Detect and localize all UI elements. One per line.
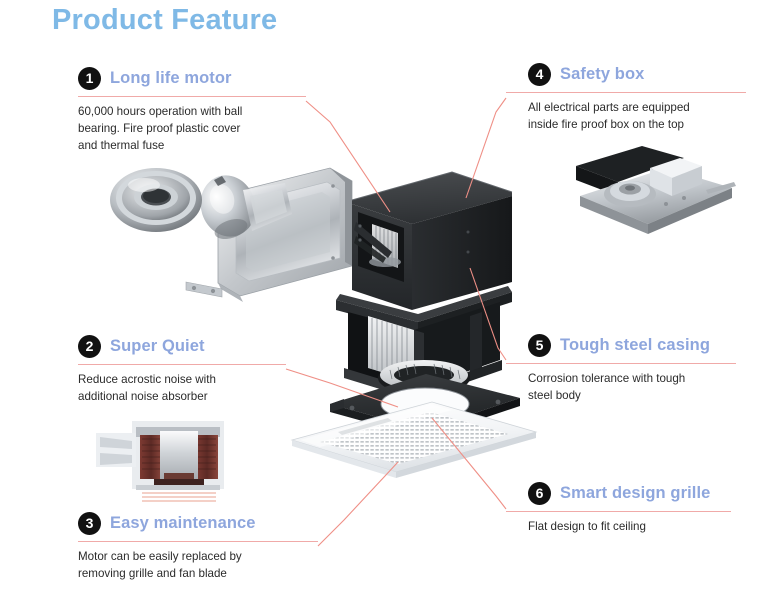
feature-4-header: 4 Safety box: [506, 62, 746, 86]
feature-3-body: Motor can be easily replaced by removing…: [78, 549, 318, 583]
feature-callout-2: 2 Super Quiet Reduce acrostic noise with…: [78, 334, 286, 406]
feature-4-rule: [506, 92, 746, 93]
feature-6-title: Smart design grille: [560, 484, 710, 503]
feature-1-body: 60,000 hours operation with ball bearing…: [78, 104, 306, 154]
feature-2-body: Reduce acrostic noise with additional no…: [78, 372, 286, 406]
feature-1-header: 1 Long life motor: [78, 66, 306, 90]
feature-2-header: 2 Super Quiet: [78, 334, 286, 358]
feature-3-title: Easy maintenance: [110, 514, 256, 533]
feature-1-title: Long life motor: [110, 69, 232, 88]
feature-5-body: Corrosion tolerance with tough steel bod…: [506, 371, 736, 405]
feature-5-title: Tough steel casing: [560, 336, 710, 355]
feature-2-badge: 2: [78, 335, 101, 358]
ceiling-grille: [292, 402, 536, 478]
feature-1-badge: 1: [78, 67, 101, 90]
feature-1-rule: [78, 96, 306, 97]
feature-6-header: 6 Smart design grille: [506, 481, 731, 505]
feature-6-badge: 6: [528, 482, 551, 505]
feature-5-rule: [506, 363, 736, 364]
feature-callout-3: 3 Easy maintenance Motor can be easily r…: [78, 511, 318, 583]
product-feature-page: Product Feature: [0, 0, 768, 614]
feature-4-body: All electrical parts are equipped inside…: [506, 100, 746, 134]
feature-3-badge: 3: [78, 512, 101, 535]
motor-cross-section-photo: [96, 413, 260, 505]
feature-callout-1: 1 Long life motor 60,000 hours operation…: [78, 66, 306, 154]
feature-3-header: 3 Easy maintenance: [78, 511, 318, 535]
feature-5-header: 5 Tough steel casing: [506, 333, 736, 357]
feature-6-rule: [506, 511, 731, 512]
feature-5-badge: 5: [528, 334, 551, 357]
feature-2-title: Super Quiet: [110, 337, 205, 356]
feature-callout-5: 5 Tough steel casing Corrosion tolerance…: [506, 333, 736, 405]
steel-casing-upper: [352, 172, 512, 310]
feature-4-title: Safety box: [560, 65, 644, 84]
ball-bearing-photo: [96, 152, 216, 244]
feature-4-badge: 4: [528, 63, 551, 86]
feature-3-rule: [78, 541, 318, 542]
feature-6-body: Flat design to fit ceiling: [506, 519, 731, 536]
feature-callout-6: 6 Smart design grille Flat design to fit…: [506, 481, 731, 536]
feature-callout-4: 4 Safety box All electrical parts are eq…: [506, 62, 746, 134]
safety-box-photo: [556, 138, 738, 246]
feature-2-rule: [78, 364, 286, 365]
